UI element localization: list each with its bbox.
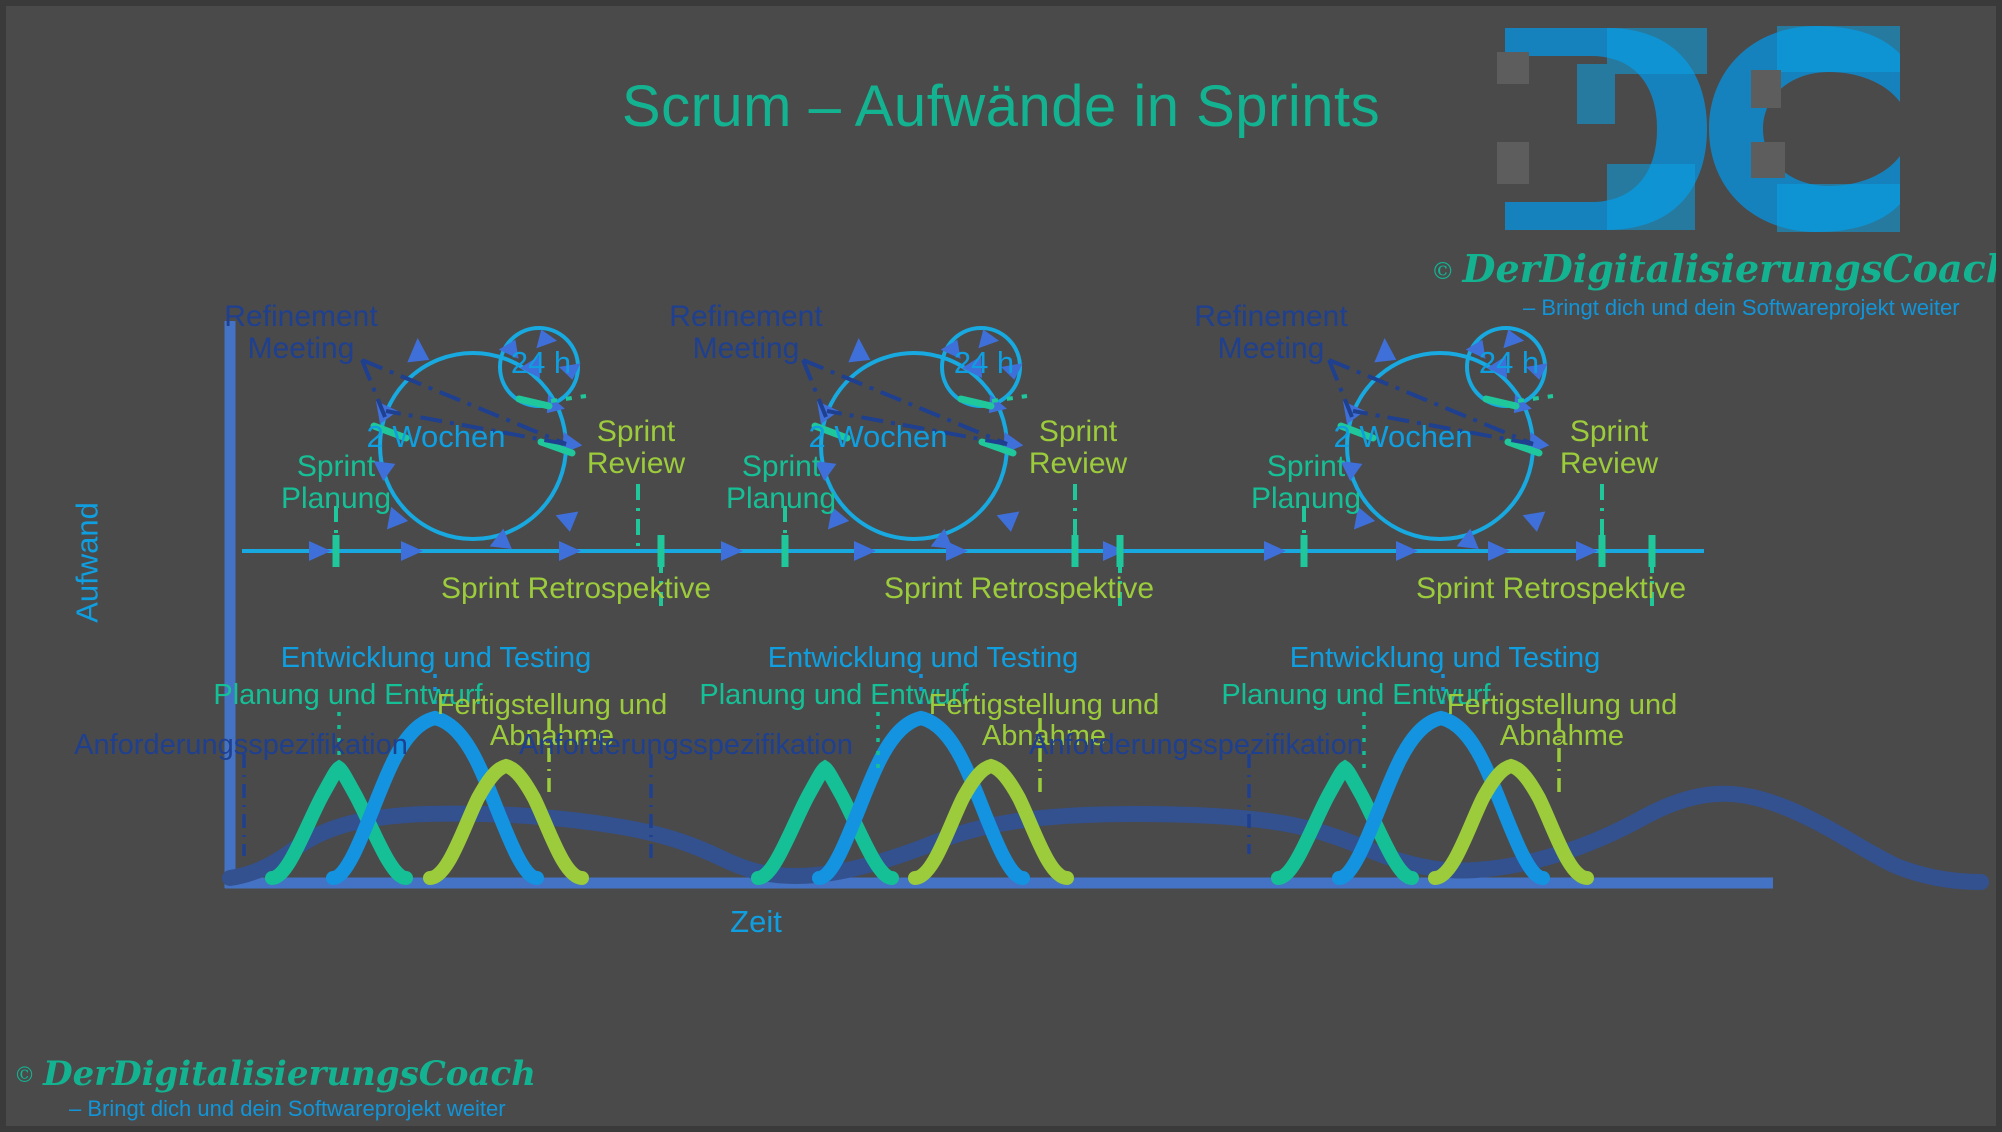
- page-title: Scrum – Aufwände in Sprints: [6, 76, 1996, 137]
- copyright-symbol-top: ©: [1431, 257, 1455, 285]
- curve-label-entwicklung-testing-1: Entwicklung und Testing: [256, 643, 616, 674]
- infographic-canvas: Scrum – Aufwände in Sprints Aufwand Zeit…: [0, 0, 2002, 1132]
- watermark-tagline-top: – Bringt dich und dein Softwareprojekt w…: [1523, 295, 2002, 321]
- watermark-brand-text-top: DerDigitalisierungsCoach: [1463, 246, 2002, 291]
- curve-label-entwicklung-testing-3: Entwicklung und Testing: [1265, 643, 1625, 674]
- sprint-1-two-weeks-label: 2 Wochen: [336, 421, 536, 454]
- y-axis-label: Aufwand: [72, 472, 105, 652]
- x-axis-label: Zeit: [686, 906, 826, 939]
- sprint-2-two-weeks-label: 2 Wochen: [778, 421, 978, 454]
- sprint-2-sprint-review-label: SprintReview: [983, 416, 1173, 480]
- sprint-2-sprint-planung-label: SprintPlanung: [686, 451, 876, 515]
- daily-leader-line: [992, 396, 1027, 401]
- sprint-3-sprint-review-label: SprintReview: [1514, 416, 1704, 480]
- watermark-brand-top: ©DerDigitalisierungsCoach: [1431, 246, 2002, 291]
- watermark-top: ©DerDigitalisierungsCoach – Bringt dich …: [1431, 246, 2002, 321]
- sprint-1-sprint-retrospektive-label: Sprint Retrospektive: [406, 573, 746, 605]
- sprint-2-refinement-meeting-label: RefinementMeeting: [651, 301, 841, 365]
- sprint-3-refinement-meeting-label: RefinementMeeting: [1176, 301, 1366, 365]
- sprint-3-sprint-planung-label: SprintPlanung: [1211, 451, 1401, 515]
- copyright-symbol-bottom: ©: [14, 1062, 35, 1087]
- curve-label-anforderungsspezifikation-2: Anforderungsspezifikation: [511, 730, 861, 761]
- curve-label-anforderungsspezifikation-3: Anforderungsspezifikation: [1021, 730, 1371, 761]
- watermark-bottom: ©DerDigitalisierungsCoach – Bringt dich …: [14, 1054, 536, 1122]
- curve-label-fertigstellung-abnahme-3: Fertigstellung undAbnahme: [1432, 690, 1692, 751]
- daily-leader-line: [551, 396, 586, 401]
- sprint-1-refinement-meeting-label: RefinementMeeting: [206, 301, 396, 365]
- sprint-3-two-weeks-label: 2 Wochen: [1303, 421, 1503, 454]
- watermark-brand-bottom: ©DerDigitalisierungsCoach: [14, 1054, 536, 1094]
- curve-label-anforderungsspezifikation-1: Anforderungsspezifikation: [66, 730, 416, 761]
- sprint-1-sprint-planung-label: SprintPlanung: [241, 451, 431, 515]
- sprint-2-sprint-retrospektive-label: Sprint Retrospektive: [849, 573, 1189, 605]
- watermark-brand-text-bottom: DerDigitalisierungsCoach: [43, 1054, 536, 1094]
- sprint-3-daily-label: 24 h: [1459, 347, 1559, 380]
- watermark-tagline-bottom: – Bringt dich und dein Softwareprojekt w…: [69, 1096, 536, 1122]
- daily-leader-line: [1518, 396, 1553, 401]
- sprint-3-sprint-retrospektive-label: Sprint Retrospektive: [1381, 573, 1721, 605]
- sprint-2-daily-label: 24 h: [934, 347, 1034, 380]
- curve-label-entwicklung-testing-2: Entwicklung und Testing: [743, 643, 1103, 674]
- sprint-1-daily-label: 24 h: [491, 347, 591, 380]
